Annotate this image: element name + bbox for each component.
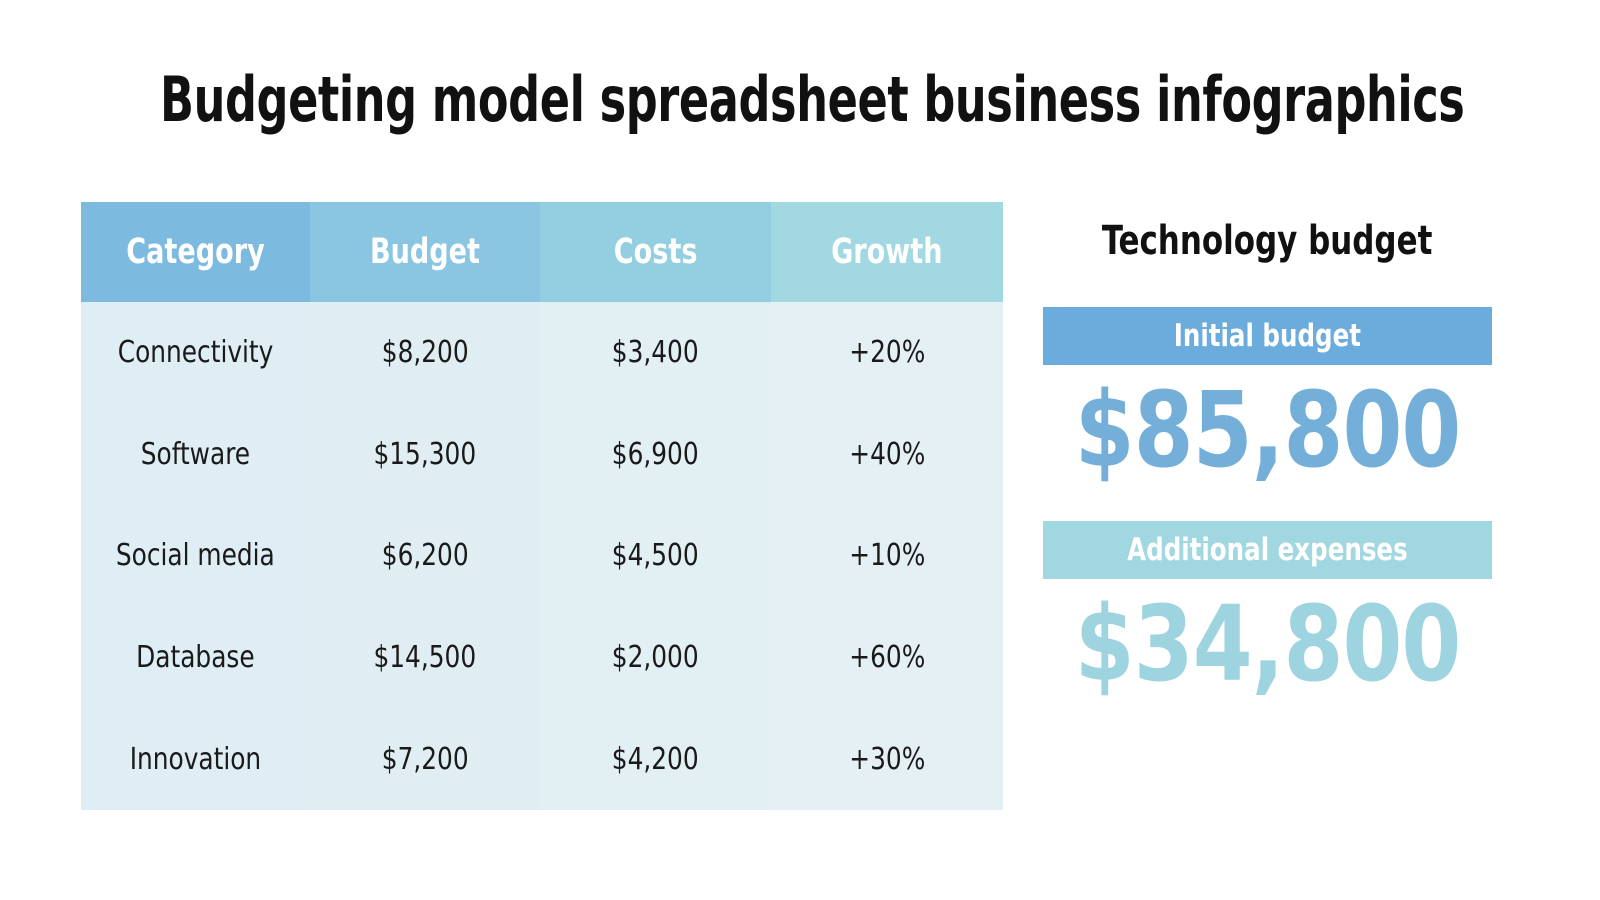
table-column-header-growth[interactable]: Growth (771, 202, 1003, 302)
table-column-costs: $3,400 $6,900 $4,500 $2,000 $4,200 (540, 302, 771, 810)
additional-expenses-value-text: $34,800 (1075, 585, 1461, 703)
table-column-header-costs[interactable]: Costs (540, 202, 771, 302)
technology-budget-panel: Technology budget Initial budget $85,800… (1043, 215, 1492, 703)
table-cell-text: +30% (849, 742, 925, 777)
table-cell-category: Connectivity (81, 302, 310, 404)
table-cell-text: +20% (849, 335, 925, 370)
table-cell-costs: $4,500 (540, 505, 771, 607)
technology-budget-heading-text: Technology budget (1102, 215, 1432, 267)
table-column-header-budget[interactable]: Budget (310, 202, 540, 302)
table-cell-costs: $6,900 (540, 404, 771, 506)
table-cell-text: Connectivity (118, 335, 274, 370)
table-column-header-costs-label: Costs (614, 232, 698, 272)
table-cell-text: Database (136, 640, 254, 675)
table-column-header-category-label: Category (126, 232, 264, 272)
initial-budget-label-band: Initial budget (1043, 307, 1492, 365)
table-cell-growth: +60% (771, 607, 1003, 709)
table-cell-text: Social media (116, 538, 275, 573)
table-cell-budget: $8,200 (310, 302, 540, 404)
table-column-category: Connectivity Software Social media Datab… (81, 302, 310, 810)
initial-budget-value-text: $85,800 (1075, 371, 1461, 489)
table-cell-costs: $3,400 (540, 302, 771, 404)
initial-budget-label: Initial budget (1174, 318, 1361, 354)
additional-expenses-label-band: Additional expenses (1043, 521, 1492, 579)
table-cell-text: $6,900 (612, 437, 699, 472)
table-column-header-growth-label: Growth (831, 232, 942, 272)
table-cell-text: $3,400 (612, 335, 699, 370)
table-cell-text: Innovation (130, 742, 261, 777)
table-column-budget: $8,200 $15,300 $6,200 $14,500 $7,200 (310, 302, 540, 810)
table-cell-text: $15,300 (374, 437, 477, 472)
table-cell-text: $7,200 (382, 742, 469, 777)
table-cell-costs: $4,200 (540, 708, 771, 810)
table-cell-text: $2,000 (612, 640, 699, 675)
table-column-header-budget-label: Budget (370, 232, 480, 272)
table-cell-text: $8,200 (382, 335, 469, 370)
technology-budget-heading: Technology budget (1043, 215, 1492, 267)
additional-expenses-label: Additional expenses (1127, 532, 1408, 568)
table-header-row: Category Budget Costs Growth (81, 202, 1003, 302)
initial-budget-value: $85,800 (1043, 371, 1492, 489)
page-title: Budgeting model spreadsheet business inf… (160, 62, 1440, 138)
table-body: Connectivity Software Social media Datab… (81, 302, 1003, 810)
table-cell-text: +40% (849, 437, 925, 472)
table-cell-growth: +30% (771, 708, 1003, 810)
table-cell-category: Database (81, 607, 310, 709)
table-cell-category: Social media (81, 505, 310, 607)
table-cell-category: Software (81, 404, 310, 506)
table-cell-growth: +20% (771, 302, 1003, 404)
additional-expenses-value: $34,800 (1043, 585, 1492, 703)
table-cell-text: Software (141, 437, 250, 472)
table-cell-budget: $14,500 (310, 607, 540, 709)
table-cell-budget: $6,200 (310, 505, 540, 607)
table-cell-costs: $2,000 (540, 607, 771, 709)
table-cell-text: $4,200 (612, 742, 699, 777)
table-cell-text: $4,500 (612, 538, 699, 573)
table-cell-text: $6,200 (382, 538, 469, 573)
budget-table: Category Budget Costs Growth Connectivit… (81, 202, 1003, 810)
table-cell-category: Innovation (81, 708, 310, 810)
table-cell-text: +60% (849, 640, 925, 675)
table-column-growth: +20% +40% +10% +60% +30% (771, 302, 1003, 810)
table-cell-budget: $15,300 (310, 404, 540, 506)
table-column-header-category[interactable]: Category (81, 202, 310, 302)
infographic-canvas: Budgeting model spreadsheet business inf… (0, 0, 1600, 900)
table-cell-text: +10% (849, 538, 925, 573)
table-cell-growth: +10% (771, 505, 1003, 607)
table-cell-budget: $7,200 (310, 708, 540, 810)
table-cell-text: $14,500 (374, 640, 477, 675)
table-cell-growth: +40% (771, 404, 1003, 506)
